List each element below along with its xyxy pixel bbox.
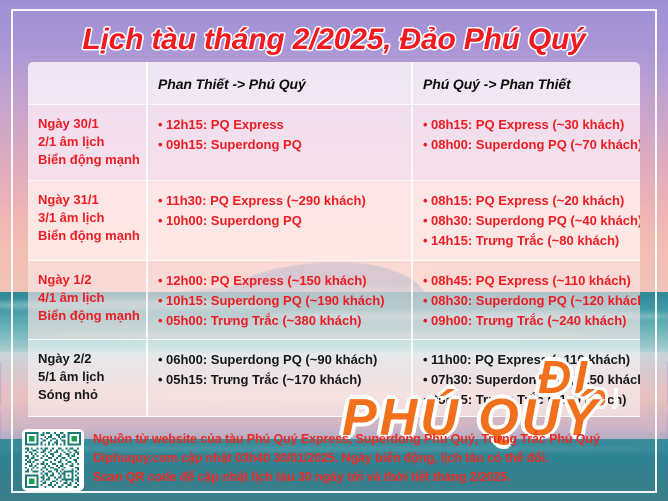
row-inbound-cell: •08h15: PQ Express (~30 khách) •08h00: S… [411,105,640,181]
trip-line: •08h30: Superdong PQ (~120 khách) [423,291,640,311]
trip-line: •08h15: PQ Express (~30 khách) [423,115,640,135]
column-divider [411,62,413,105]
table-row: Ngày 2/2 5/1 âm lịch Sóng nhỏ •06h00: Su… [28,340,640,417]
trip-line: •08h45: PQ Express (~110 khách) [423,271,640,291]
column-divider [411,261,413,340]
row-date-line2: 2/1 âm lịch [38,133,146,151]
trip-line: •12h00: PQ Express (~150 khách) [158,271,411,291]
table-row: Ngày 30/1 2/1 âm lịch Biển động mạnh •12… [28,105,640,181]
trip-line: •05h15: Trưng Trắc (~170 khách) [158,370,411,390]
row-outbound-cell: •06h00: Superdong PQ (~90 khách) •05h15:… [146,340,411,417]
row-date-line1: Ngày 31/1 [38,191,146,209]
row-outbound-cell: •12h00: PQ Express (~150 khách) •10h15: … [146,261,411,340]
row-sea-condition: Sóng nhỏ [38,386,146,404]
trip-line: •05h15: Trưng Trắc (~120 khách) [423,390,640,410]
footer-text: Nguồn từ website của tàu Phú Quý Express… [93,429,600,487]
trip-line: •08h00: Superdong PQ (~70 khách) [423,135,640,155]
footer-line-3: Scan QR code để cập nhật lịch tàu 30 ngà… [93,468,600,487]
trip-line: •14h15: Trưng Trắc (~80 khách) [423,231,640,251]
header-cell-inbound: Phú Quý -> Phan Thiết [411,62,640,105]
row-divider [28,416,640,418]
schedule-table: Phan Thiết -> Phú Quý Phú Quý -> Phan Th… [28,62,640,417]
footer: Nguồn từ website của tàu Phú Quý Express… [22,429,654,491]
page-title: Lịch tàu tháng 2/2025, Đảo Phú Quý [0,20,668,60]
trip-line: •12h15: PQ Express [158,115,411,135]
row-sea-condition: Biển động mạnh [38,151,146,169]
column-divider [411,181,413,261]
row-outbound-cell: •12h15: PQ Express •09h15: Superdong PQ [146,105,411,181]
column-divider [146,340,148,417]
row-date-line2: 4/1 âm lịch [38,289,146,307]
column-divider [146,181,148,261]
column-divider [146,105,148,181]
row-sea-condition: Biển động mạnh [38,227,146,245]
row-inbound-cell: •08h15: PQ Express (~20 khách) •08h30: S… [411,181,640,261]
trip-line: •11h00: PQ Express (~110 khách) [423,350,640,370]
row-date-line2: 5/1 âm lịch [38,368,146,386]
header-cell-date [28,62,146,105]
row-sea-condition: Biển động mạnh [38,307,146,325]
footer-line-1: Nguồn từ website của tàu Phú Quý Express… [93,430,600,449]
trip-line: •08h15: PQ Express (~20 khách) [423,191,640,211]
footer-line-2: Diphuquy.com cập nhật 03h40 30/01/2025. … [93,449,600,468]
row-date-cell: Ngày 31/1 3/1 âm lịch Biển động mạnh [28,181,146,261]
column-divider [146,62,148,105]
column-divider [411,105,413,181]
row-date-cell: Ngày 2/2 5/1 âm lịch Sóng nhỏ [28,340,146,417]
trip-line: •10h15: Superdong PQ (~190 khách) [158,291,411,311]
trip-line: •07h30: Superdong PQ (~150 khách) [423,370,640,390]
row-inbound-cell: •11h00: PQ Express (~110 khách) •07h30: … [411,340,640,417]
column-divider [411,340,413,417]
row-outbound-cell: •11h30: PQ Express (~290 khách) •10h00: … [146,181,411,261]
table-header-row: Phan Thiết -> Phú Quý Phú Quý -> Phan Th… [28,62,640,105]
trip-line: •06h00: Superdong PQ (~90 khách) [158,350,411,370]
trip-line: •10h00: Superdong PQ [158,211,411,231]
row-date-line2: 3/1 âm lịch [38,209,146,227]
table-row: Ngày 1/2 4/1 âm lịch Biển động mạnh •12h… [28,261,640,340]
column-divider [146,261,148,340]
table-row: Ngày 31/1 3/1 âm lịch Biển động mạnh •11… [28,181,640,261]
trip-line: •05h00: Trưng Trắc (~380 khách) [158,311,411,331]
row-date-line1: Ngày 30/1 [38,115,146,133]
qr-code[interactable] [22,429,84,491]
header-inbound-label: Phú Quý -> Phan Thiết [423,76,571,92]
row-date-cell: Ngày 30/1 2/1 âm lịch Biển động mạnh [28,105,146,181]
row-date-cell: Ngày 1/2 4/1 âm lịch Biển động mạnh [28,261,146,340]
trip-line: •11h30: PQ Express (~290 khách) [158,191,411,211]
row-date-line1: Ngày 1/2 [38,271,146,289]
header-cell-outbound: Phan Thiết -> Phú Quý [146,62,411,105]
header-outbound-label: Phan Thiết -> Phú Quý [158,76,306,92]
row-inbound-cell: •08h45: PQ Express (~110 khách) •08h30: … [411,261,640,340]
trip-line: •09h00: Trưng Trắc (~240 khách) [423,311,640,331]
row-date-line1: Ngày 2/2 [38,350,146,368]
trip-line: •08h30: Superdong PQ (~40 khách) [423,211,640,231]
trip-line: •09h15: Superdong PQ [158,135,411,155]
